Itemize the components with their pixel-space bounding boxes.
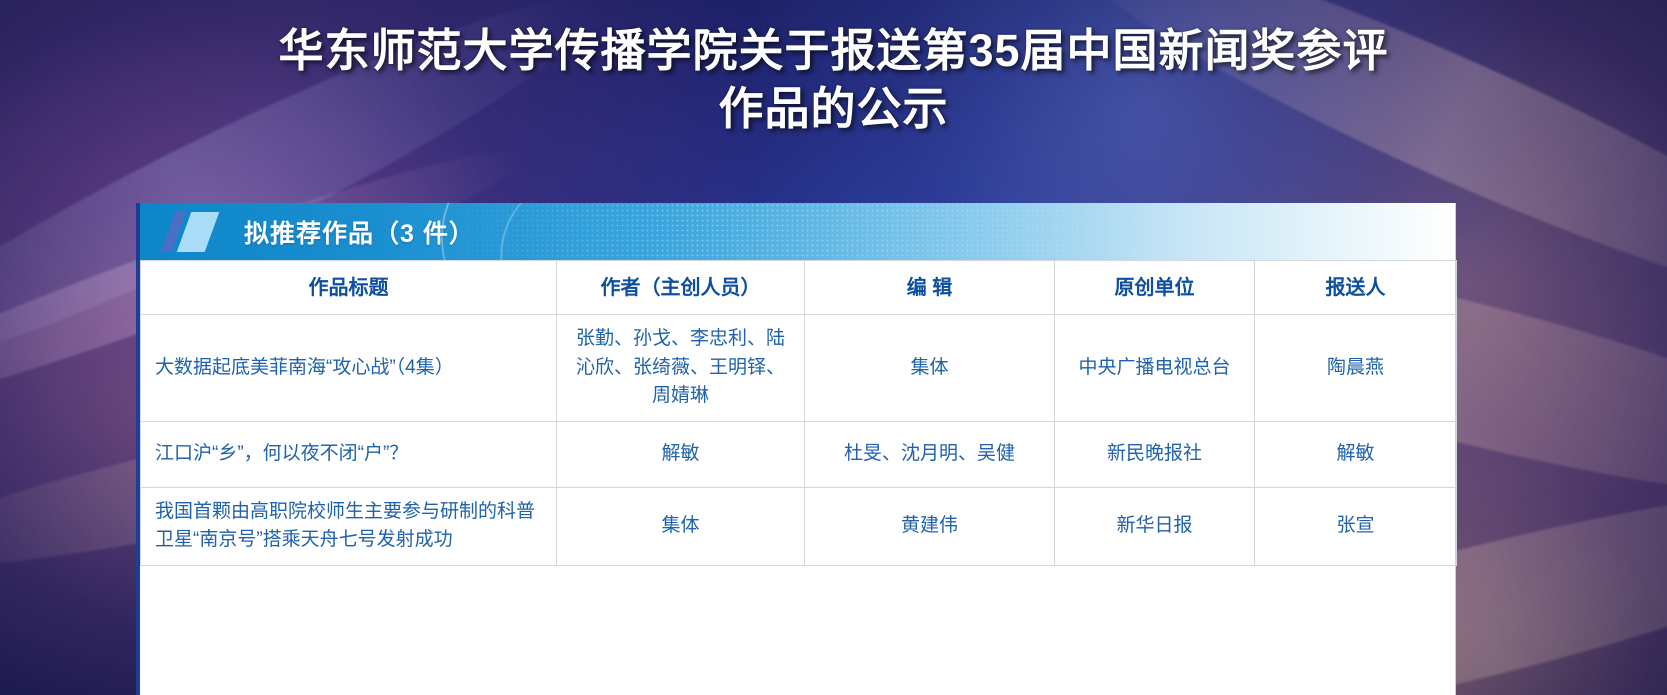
page-title-line-1: 华东师范大学传播学院关于报送第35届中国新闻奖参评	[160, 22, 1507, 80]
table-row: 我国首颗由高职院校师生主要参与研制的科普卫星“南京号”搭乘天舟七号发射成功 集体…	[141, 487, 1457, 565]
banner-arc-decoration	[484, 203, 697, 260]
works-table-wrapper: 作品标题 作者（主创人员） 编 辑 原创单位 报送人 大数据起底美菲南海“攻心战…	[140, 260, 1455, 566]
cell-work-title: 我国首颗由高职院校师生主要参与研制的科普卫星“南京号”搭乘天舟七号发射成功	[141, 487, 557, 565]
cell-author: 解敏	[557, 421, 805, 487]
cell-work-title: 江口沪“乡”，何以夜不闭“户”？	[141, 421, 557, 487]
column-header-editor: 编 辑	[805, 261, 1055, 315]
content-card: 拟推荐作品（3 件） 作品标题 作者（主创人员） 编 辑 原创单位 报送人 大数…	[136, 203, 1456, 695]
cell-author: 张勤、孙戈、李忠利、陆沁欣、张绮薇、王明铎、周婧琳	[557, 315, 805, 422]
column-header-unit: 原创单位	[1055, 261, 1255, 315]
page-title-line-2: 作品的公示	[160, 80, 1507, 138]
cell-submitter: 张宣	[1255, 487, 1457, 565]
cell-editor: 集体	[805, 315, 1055, 422]
column-header-author: 作者（主创人员）	[557, 261, 805, 315]
table-header-row: 作品标题 作者（主创人员） 编 辑 原创单位 报送人	[141, 261, 1457, 315]
cell-editor: 黄建伟	[805, 487, 1055, 565]
table-row: 大数据起底美菲南海“攻心战”（4集） 张勤、孙戈、李忠利、陆沁欣、张绮薇、王明铎…	[141, 315, 1457, 422]
cell-submitter: 解敏	[1255, 421, 1457, 487]
cell-work-title: 大数据起底美菲南海“攻心战”（4集）	[141, 315, 557, 422]
section-banner: 拟推荐作品（3 件）	[140, 203, 1455, 260]
column-header-title: 作品标题	[141, 261, 557, 315]
cell-submitter: 陶晨燕	[1255, 315, 1457, 422]
column-header-submitter: 报送人	[1255, 261, 1457, 315]
works-table: 作品标题 作者（主创人员） 编 辑 原创单位 报送人 大数据起底美菲南海“攻心战…	[140, 260, 1457, 566]
section-banner-label: 拟推荐作品（3 件）	[244, 214, 475, 250]
parallelogram-mark-icon	[168, 212, 226, 252]
cell-editor: 杜旻、沈月明、吴健	[805, 421, 1055, 487]
cell-unit: 新华日报	[1055, 487, 1255, 565]
table-row: 江口沪“乡”，何以夜不闭“户”？ 解敏 杜旻、沈月明、吴健 新民晚报社 解敏	[141, 421, 1457, 487]
page-title: 华东师范大学传播学院关于报送第35届中国新闻奖参评 作品的公示	[0, 22, 1667, 137]
cell-unit: 中央广播电视总台	[1055, 315, 1255, 422]
cell-author: 集体	[557, 487, 805, 565]
cell-unit: 新民晚报社	[1055, 421, 1255, 487]
